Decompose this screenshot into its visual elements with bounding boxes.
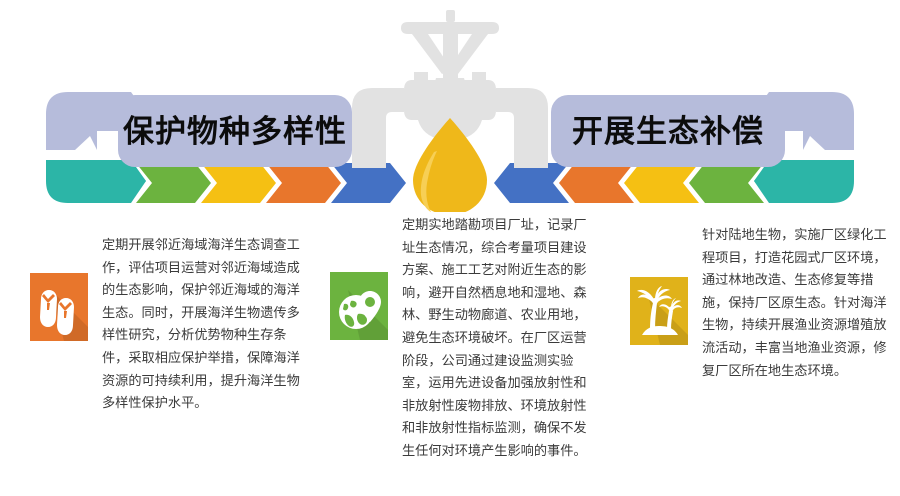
column-body-text: 定期实地踏勘项目厂址，记录厂址生态情况，综合考量项目建设方案、施工工艺对附近生态… <box>402 215 597 464</box>
column-body-text: 针对陆地生物，实施厂区绿化工程项目，打造花园式厂区环境，通过林地改造、生态修复等… <box>702 225 892 383</box>
right-title-text: 开展生态补偿 <box>572 116 764 147</box>
oil-droplet-icon <box>413 118 487 215</box>
chevron-yellow <box>201 163 276 203</box>
left-title-pill: 保护物种多样性 <box>118 95 352 167</box>
palm-island-icon <box>630 277 688 345</box>
flip-flops-icon <box>30 273 88 341</box>
right-title-pill: 开展生态补偿 <box>551 95 785 167</box>
content-columns: 定期开展邻近海域海洋生态调查工作，评估项目运营对邻近海域造成的生态影响，保护邻近… <box>0 215 900 496</box>
left-title-text: 保护物种多样性 <box>123 116 347 147</box>
globe-location-pin-icon <box>330 272 388 340</box>
content-column: 定期开展邻近海域海洋生态调查工作，评估项目运营对邻近海域造成的生态影响，保护邻近… <box>30 235 310 416</box>
content-column: 针对陆地生物，实施厂区绿化工程项目，打造花园式厂区环境，通过林地改造、生态修复等… <box>630 225 895 383</box>
column-body-text: 定期开展邻近海域海洋生态调查工作，评估项目运营对邻近海域造成的生态影响，保护邻近… <box>102 235 307 416</box>
infographic-canvas: 保护物种多样性 开展生态补偿 <box>0 0 900 496</box>
content-column: 定期实地踏勘项目厂址，记录厂址生态情况，综合考量项目建设方案、施工工艺对附近生态… <box>330 215 605 464</box>
chevron-green <box>136 163 211 203</box>
chevron-orange <box>266 163 341 203</box>
banner-section: 保护物种多样性 开展生态补偿 <box>0 0 900 215</box>
